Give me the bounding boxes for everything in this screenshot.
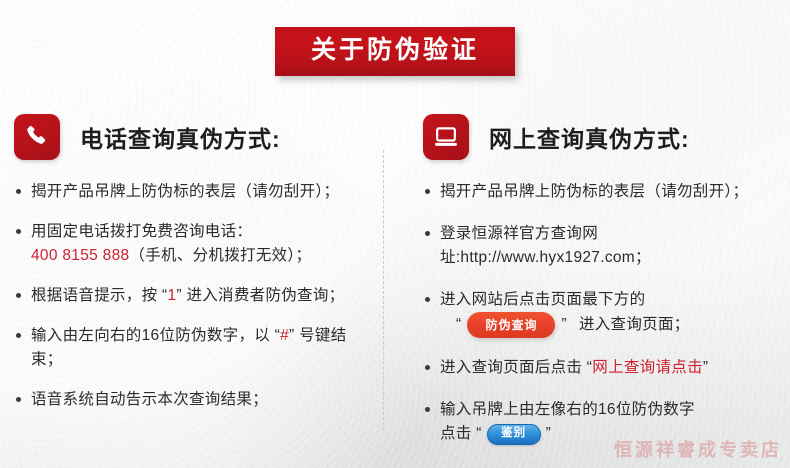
online-section-title: 网上查询真伪方式: bbox=[489, 120, 690, 154]
phone-section-title: 电话查询真伪方式: bbox=[80, 120, 281, 154]
step-text: 揭开产品吊牌上防伪标的表层（请勿刮开）； bbox=[440, 183, 748, 200]
quote-close: ” bbox=[561, 313, 566, 337]
step-second-line: 400 8155 888（手机、分机拨打无效）； bbox=[31, 244, 375, 268]
list-item: 揭开产品吊牌上防伪标的表层（请勿刮开）； bbox=[14, 180, 375, 204]
phone-number-suffix: （手机、分机拨打无效）； bbox=[129, 247, 311, 264]
step-text: 语音系统自动告示本次查询结果； bbox=[31, 391, 268, 408]
click-prefix: 点击 “ bbox=[440, 422, 482, 446]
banner-container: 关于防伪验证 bbox=[0, 27, 790, 76]
list-item: 用固定电话拨打免费咨询电话： 400 8155 888（手机、分机拨打无效）； bbox=[14, 220, 375, 268]
identify-button[interactable]: 鉴别 bbox=[487, 424, 541, 445]
list-item: 根据语音提示，按 “1” 进入消费者防伪查询； bbox=[14, 284, 375, 308]
list-item: 进入查询页面后点击 “网上查询请点击” bbox=[423, 356, 790, 380]
phone-number: 400 8155 888 bbox=[31, 247, 129, 264]
online-query-link-label[interactable]: 网上查询请点击 bbox=[592, 359, 703, 376]
phone-section-header: 电话查询真伪方式: bbox=[14, 108, 375, 166]
step-text: 揭开产品吊牌上防伪标的表层（请勿刮开）； bbox=[31, 183, 339, 200]
phone-verification-column: 电话查询真伪方式: 揭开产品吊牌上防伪标的表层（请勿刮开）； 用固定电话拨打免费… bbox=[0, 108, 375, 448]
hash-key: # bbox=[280, 327, 289, 344]
quote-open: “ bbox=[456, 313, 461, 337]
step-text: 用固定电话拨打免费咨询电话： bbox=[31, 223, 252, 240]
online-steps-list: 揭开产品吊牌上防伪标的表层（请勿刮开）； 登录恒源祥官方查询网址:http://… bbox=[423, 180, 790, 446]
list-item: 语音系统自动告示本次查询结果； bbox=[14, 388, 375, 412]
quote-close: ” bbox=[546, 422, 551, 446]
list-item: 登录恒源祥官方查询网址:http://www.hyx1927.com； bbox=[423, 222, 790, 270]
official-site-text: 登录恒源祥官方查询网址:http://www.hyx1927.com； bbox=[440, 225, 651, 266]
phone-steps-list: 揭开产品吊牌上防伪标的表层（请勿刮开）； 用固定电话拨打免费咨询电话： 400 … bbox=[14, 180, 375, 412]
step-prefix: 进入查询页面后点击 “ bbox=[440, 359, 592, 376]
online-section-header: 网上查询真伪方式: bbox=[423, 108, 790, 166]
online-verification-column: 网上查询真伪方式: 揭开产品吊牌上防伪标的表层（请勿刮开）； 登录恒源祥官方查询… bbox=[375, 108, 790, 448]
step-text: 输入吊牌上由左像右的16位防伪数字 bbox=[440, 401, 695, 418]
content-columns: 电话查询真伪方式: 揭开产品吊牌上防伪标的表层（请勿刮开）； 用固定电话拨打免费… bbox=[0, 108, 790, 448]
page-background: 关于防伪验证 电话查询真伪方式: 揭开产品吊牌上防伪标的表层（请勿刮开）； 用固 bbox=[0, 0, 790, 468]
list-item: 揭开产品吊牌上防伪标的表层（请勿刮开）； bbox=[423, 180, 790, 204]
column-divider bbox=[383, 150, 384, 430]
step-suffix: ” 进入消费者防伪查询； bbox=[176, 287, 344, 304]
step-suffix: ” bbox=[703, 359, 708, 376]
step-prefix: 根据语音提示，按 “ bbox=[31, 287, 167, 304]
step-second-line: “ 防伪查询 ” 进入查询页面； bbox=[440, 312, 790, 338]
fangwei-query-button[interactable]: 防伪查询 bbox=[467, 312, 555, 338]
list-item: 进入网站后点击页面最下方的 “ 防伪查询 ” 进入查询页面； bbox=[423, 288, 790, 338]
phone-icon bbox=[14, 114, 60, 160]
step-text: 进入网站后点击页面最下方的 bbox=[440, 291, 645, 308]
laptop-icon bbox=[423, 114, 469, 160]
list-item: 输入由左向右的16位防伪数字，以 “#” 号键结束； bbox=[14, 324, 375, 372]
step-prefix: 输入由左向右的16位防伪数字，以 “ bbox=[31, 327, 280, 344]
page-title-banner: 关于防伪验证 bbox=[275, 27, 515, 76]
shop-watermark: 恒源祥睿成专卖店 bbox=[614, 436, 782, 462]
step-after-text: 进入查询页面； bbox=[579, 313, 690, 337]
